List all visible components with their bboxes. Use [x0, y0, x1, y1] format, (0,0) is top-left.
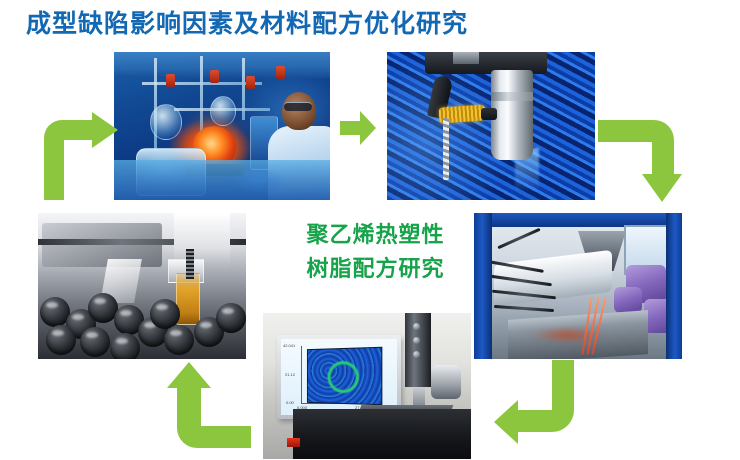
lab-stand-rod-2: [200, 56, 203, 134]
extruder-motor-3: [614, 287, 642, 313]
cnc-collar: [453, 52, 479, 64]
autosampler-needle: [186, 249, 194, 279]
extruder-hose-4: [494, 305, 554, 312]
lab-bench-surface: [114, 160, 330, 200]
caption-line-2: 树脂配方研究: [288, 252, 463, 286]
lab-clamp-1: [166, 74, 175, 87]
lab-clamp-4: [276, 66, 285, 79]
chemistry-laboratory-photo: [114, 52, 330, 200]
extruder-hose-5: [497, 228, 540, 249]
vial-cap: [164, 325, 194, 355]
cnc-spindle-band: [491, 92, 533, 101]
center-caption: 聚乙烯热塑性 树脂配方研究: [288, 218, 463, 286]
metrology-screen: 42.041 21.12 0.00 0.000 27.128: [281, 339, 397, 415]
flow-arrow-right: [338, 108, 378, 148]
metrology-workstation-photo: 42.041 21.12 0.00 0.000 27.128: [263, 313, 471, 459]
screen-label-min: 0.00: [286, 400, 294, 405]
vial-cap: [110, 333, 140, 359]
lab-clamp-3: [246, 76, 255, 89]
lab-researcher-head: [282, 92, 316, 130]
lab-safety-goggles: [284, 102, 312, 111]
slide-canvas: 成型缺陷影响因素及材料配方优化研究: [0, 0, 740, 460]
cnc-drill-bit: [443, 118, 449, 180]
vial-cap: [46, 325, 76, 355]
flow-arrow-right-down: [598, 112, 682, 204]
metrology-indicator-light: [287, 438, 300, 447]
lab-clamp-2: [210, 70, 219, 83]
lab-round-flask-1: [150, 104, 182, 140]
metrology-column-dot: [413, 351, 420, 358]
extrusion-line-photo: [474, 213, 682, 359]
vial-cap: [216, 303, 246, 333]
cnc-spindle: [491, 70, 533, 160]
lab-round-flask-2: [210, 96, 236, 126]
metrology-column-dot: [413, 323, 420, 330]
surface-topography-heatmap: [307, 347, 382, 406]
sample-vial-autosampler-photo: [38, 213, 246, 359]
lab-cross-rod-1: [142, 82, 262, 85]
vial-cap: [80, 327, 110, 357]
lab-shelf: [114, 52, 330, 78]
flow-arrow-up-right: [36, 112, 118, 200]
extruder-frame-right: [666, 213, 682, 359]
screen-label-mid: 21.12: [285, 372, 295, 377]
metrology-optical-head: [431, 365, 461, 399]
autosampler-back-block: [42, 223, 162, 267]
caption-line-1: 聚乙烯热塑性: [288, 218, 463, 252]
screen-y-axis: [301, 346, 302, 404]
metrology-column-dot: [413, 337, 420, 344]
cnc-nozzle-tip: [481, 108, 497, 120]
extruder-frame-left: [474, 213, 492, 359]
metrology-base: [293, 409, 471, 459]
screen-label-max: 42.041: [283, 343, 295, 348]
flow-arrow-left-up: [167, 360, 251, 448]
cnc-machining-photo: [387, 52, 595, 200]
flow-arrow-down-left: [494, 360, 578, 446]
page-title: 成型缺陷影响因素及材料配方优化研究: [26, 8, 468, 41]
